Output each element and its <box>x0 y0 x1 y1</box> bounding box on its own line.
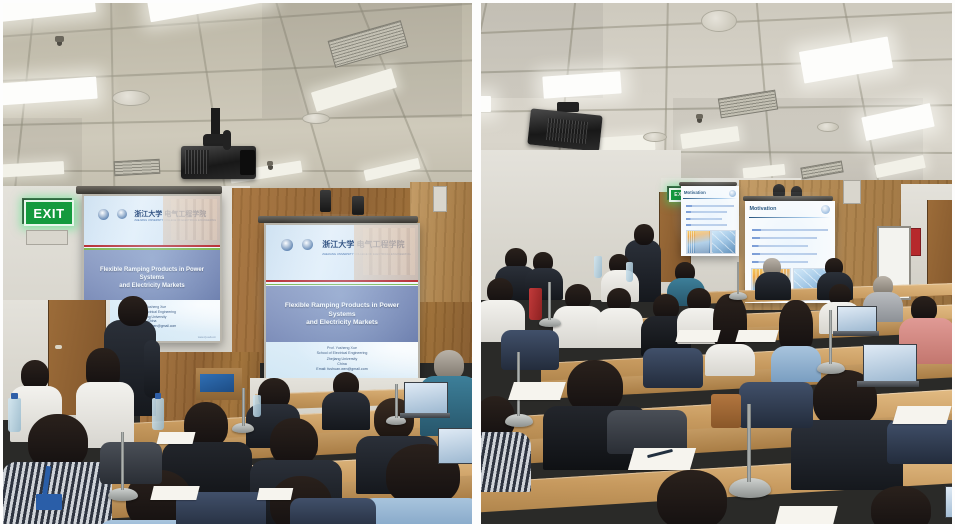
sprinkler-icon <box>55 36 64 42</box>
sprinkler-icon <box>267 161 273 166</box>
laptop-base <box>400 413 450 418</box>
chair <box>643 348 703 388</box>
notebook <box>892 406 951 424</box>
slide-university-cn: 浙江大学 电气工程学院 <box>322 239 404 250</box>
exit-sign: EXIT <box>22 198 72 224</box>
notebook <box>508 382 566 400</box>
wall-speaker-icon <box>320 190 331 212</box>
screen-roller-left <box>76 186 222 194</box>
ceiling <box>0 0 472 213</box>
slide-title-right: 浙江大学 电气工程学院 ZHEJIANG UNIVERSITY COLLEGE … <box>266 225 418 388</box>
image-border-left <box>0 0 3 530</box>
image-border-top <box>0 0 955 3</box>
air-vent <box>114 159 161 176</box>
ceiling-speaker-icon <box>643 132 667 142</box>
screen-roller-right <box>258 216 418 223</box>
slide-heading: Motivation <box>684 190 706 195</box>
wall-control-plate[interactable] <box>433 186 447 212</box>
sprinkler-icon <box>696 114 703 119</box>
slide-title-line1: Flexible Ramping Products in Power Syste… <box>89 266 214 282</box>
panel-divider <box>472 0 481 530</box>
ceiling-speaker-icon <box>112 90 150 106</box>
wall-control-plate[interactable] <box>843 180 861 204</box>
laptop[interactable] <box>438 428 472 464</box>
laptop-base <box>857 381 919 387</box>
photo-collage: EXIT 浙江大学 电气工程学院 ZHEJIANG UNIVERSITY COL… <box>0 0 955 530</box>
paper-notes <box>257 488 294 500</box>
slide-author-block: Prof. Yusheng Xue School of Electrical E… <box>266 346 418 372</box>
wall-notice <box>26 230 68 245</box>
notebook <box>675 330 720 342</box>
image-border-bottom <box>0 524 955 530</box>
chair <box>100 442 162 484</box>
slide-university-en: ZHEJIANG UNIVERSITY COLLEGE OF ELECTRICA… <box>322 252 410 256</box>
exit-sign-label: EXIT <box>33 207 64 220</box>
wall-speaker-icon <box>352 196 364 215</box>
slide-university-cn: 浙江大学 电气工程学院 <box>134 209 206 219</box>
slide-title-line2: and Electricity Markets <box>272 319 412 328</box>
storage-box <box>200 374 234 392</box>
ceiling-speaker-icon <box>817 122 839 132</box>
slide-title-line1: Flexible Ramping Products in Power Syste… <box>272 302 412 320</box>
slide-corner-note: www.zju.edu.cn <box>198 336 216 339</box>
laptop[interactable] <box>404 382 448 416</box>
door-right[interactable] <box>927 200 955 296</box>
laptop-base <box>833 331 879 336</box>
right-photo: EXIT Motivation <box>481 0 955 530</box>
slide-title-text: Flexible Ramping Products in Power Syste… <box>89 266 214 290</box>
handbag <box>711 394 741 428</box>
name-badge <box>36 494 62 510</box>
paper-notes <box>150 486 199 500</box>
water-bottle <box>594 256 602 278</box>
left-photo: EXIT 浙江大学 电气工程学院 ZHEJIANG UNIVERSITY COL… <box>0 0 472 530</box>
water-bottle <box>152 398 164 430</box>
water-bottle <box>529 288 542 320</box>
ceiling-speaker-icon <box>701 10 737 32</box>
chair <box>501 330 559 370</box>
water-bottle <box>253 395 261 417</box>
ceiling-light <box>481 96 491 112</box>
laptop[interactable] <box>863 344 917 384</box>
chair <box>887 420 955 464</box>
slide-university-en: ZHEJIANG UNIVERSITY COLLEGE OF ELECTRICA… <box>134 219 216 222</box>
slide-heading: Motivation <box>750 206 777 212</box>
paper-notes <box>157 432 196 444</box>
slide-title-text: Flexible Ramping Products in Power Syste… <box>272 302 412 329</box>
notebook <box>735 330 778 342</box>
water-bottle <box>8 398 21 432</box>
water-bottle <box>626 262 633 282</box>
projection-screen-1: Motivation <box>681 186 739 256</box>
slide-content-1: Motivation <box>681 186 739 256</box>
slide-title-line2: and Electricity Markets <box>89 282 214 290</box>
laptop[interactable] <box>837 306 877 334</box>
projection-screen-right: 浙江大学 电气工程学院 ZHEJIANG UNIVERSITY COLLEGE … <box>264 223 420 390</box>
